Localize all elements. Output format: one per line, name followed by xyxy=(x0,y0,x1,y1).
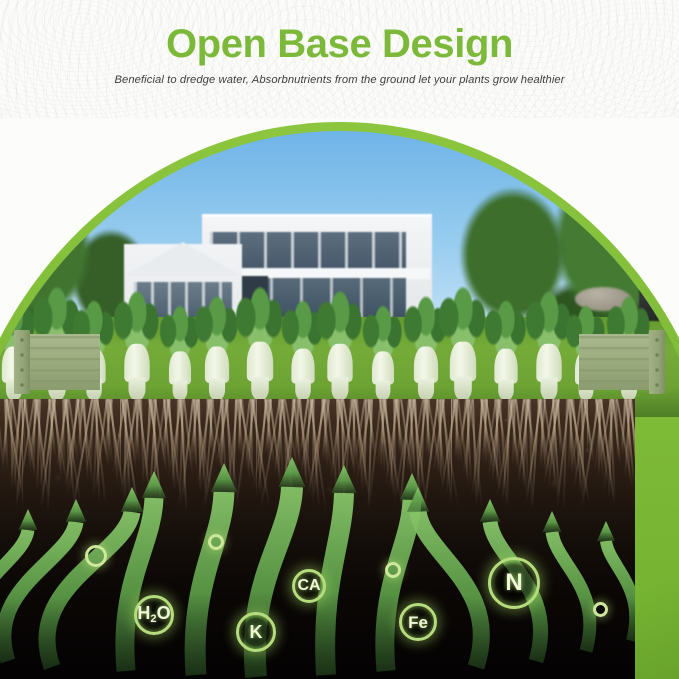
bubble-label: CA xyxy=(297,578,320,594)
nutrient-bubble-k: K xyxy=(236,612,276,652)
empty-nutrient-ring-2 xyxy=(208,534,224,550)
nutrient-bubble-ca: CA xyxy=(292,569,326,603)
bubble-label: N xyxy=(505,571,522,595)
nutrient-bubble-h2o: H2O xyxy=(134,595,174,635)
empty-nutrient-ring-4 xyxy=(593,602,608,617)
nutrient-bubble-n: N xyxy=(488,557,540,609)
nutrient-bubble-fe: Fe xyxy=(399,603,437,641)
bubble-label: Fe xyxy=(408,614,428,631)
empty-nutrient-ring-1 xyxy=(85,545,107,567)
bubble-label: K xyxy=(250,623,263,641)
bubble-label: H2O xyxy=(137,604,170,625)
empty-nutrient-ring-3 xyxy=(385,562,401,578)
nutrient-bubbles-layer: H2OKCAFeN xyxy=(0,0,679,679)
infographic-page: Open Base Design Beneficial to dredge wa… xyxy=(0,0,679,679)
